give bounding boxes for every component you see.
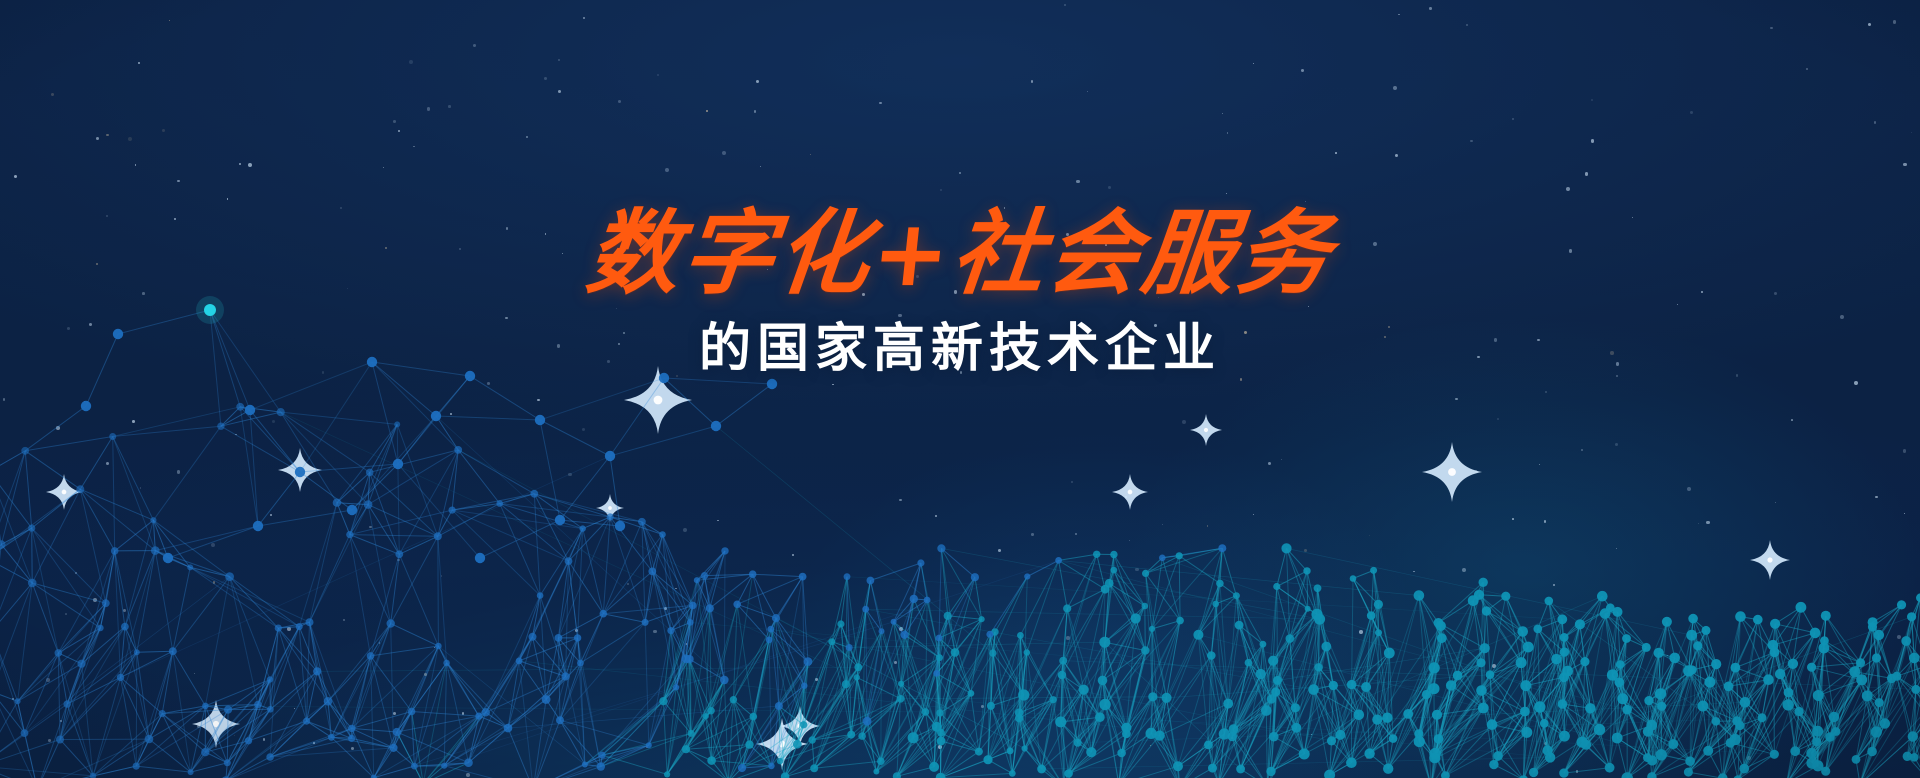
hero-text-block: 数字化+社会服务 的国家高新技术企业 [0, 206, 1920, 379]
hero-banner: 数字化+社会服务 的国家高新技术企业 [0, 0, 1920, 778]
page-title: 数字化+社会服务 [0, 206, 1920, 302]
page-subtitle: 的国家高新技术企业 [0, 318, 1920, 379]
